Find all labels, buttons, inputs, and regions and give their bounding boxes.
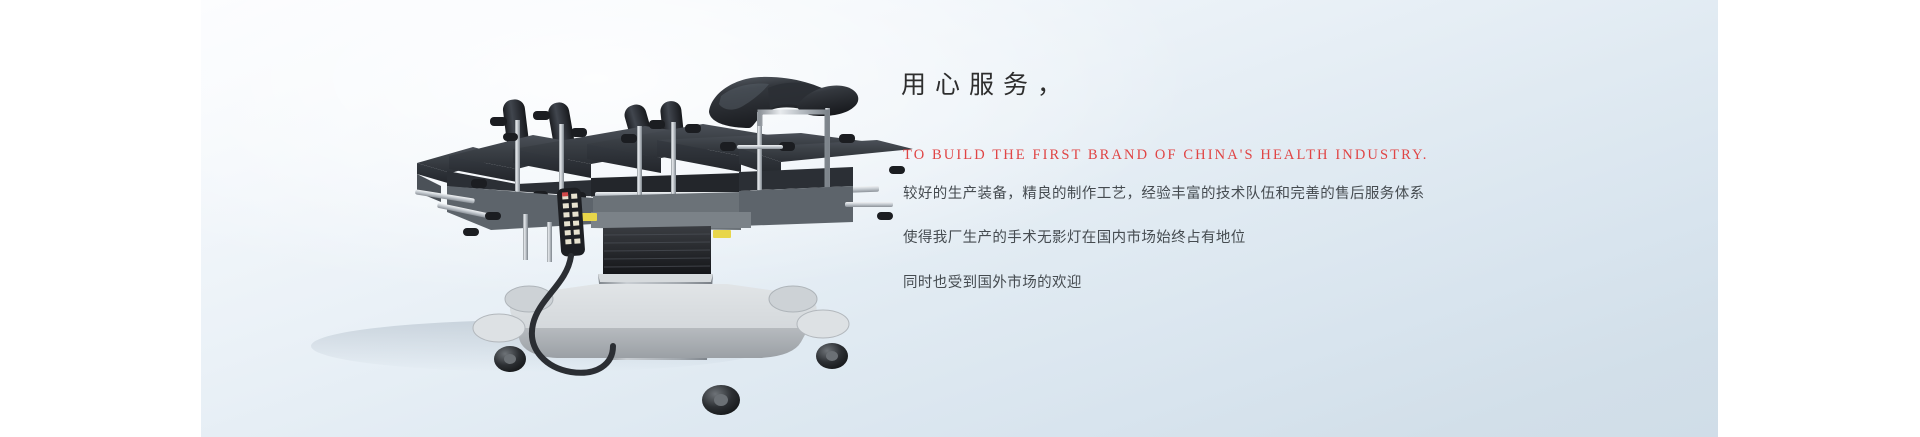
operating-table-image <box>241 16 941 437</box>
promo-banner: 用心服务， TO BUILD THE FIRST BRAND OF CHINA'… <box>201 0 1718 437</box>
description-block: 较好的生产装备，精良的制作工艺，经验丰富的技术队伍和完善的售后服务体系 使得我厂… <box>903 164 1543 312</box>
page-canvas: 用心服务， TO BUILD THE FIRST BRAND OF CHINA'… <box>0 0 1920 437</box>
description-line-3: 同时也受到国外市场的欢迎 <box>903 268 1543 298</box>
tagline-english: TO BUILD THE FIRST BRAND OF CHINA'S HEAL… <box>903 145 1429 165</box>
page-title: 用心服务， <box>901 68 1071 102</box>
description-line-1: 较好的生产装备，精良的制作工艺，经验丰富的技术队伍和完善的售后服务体系 <box>903 179 1543 209</box>
column-bellows <box>603 226 711 278</box>
right-accessory-arms <box>845 166 905 220</box>
trolley-base <box>473 284 849 358</box>
banner-copy: 用心服务， TO BUILD THE FIRST BRAND OF CHINA'… <box>901 0 1701 437</box>
description-line-2: 使得我厂生产的手术无影灯在国内市场始终占有地位 <box>903 223 1543 253</box>
